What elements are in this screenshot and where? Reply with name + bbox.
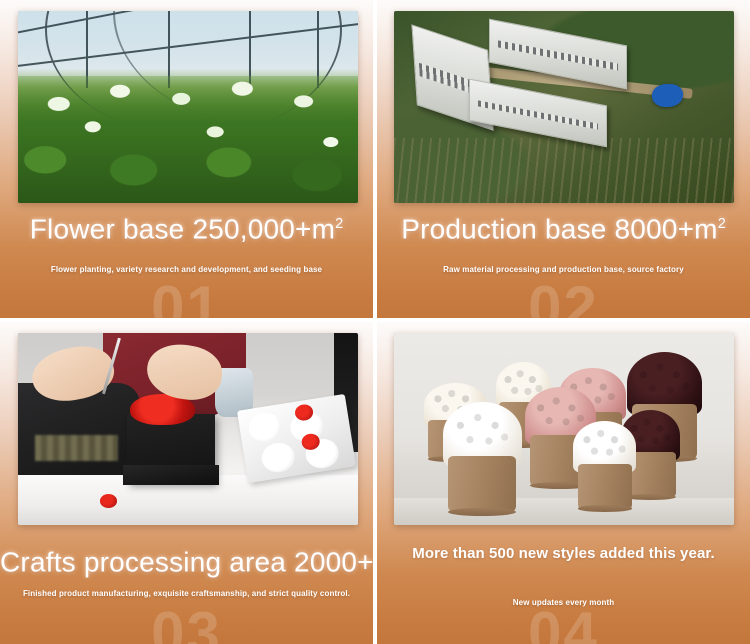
panel-photo-crafts-processing [18, 333, 358, 525]
panel-title-crafts-processing: Crafts processing area 2000+m2 [0, 540, 373, 579]
feature-panel-grid: Flower base 250,000+m2 Flower planting, … [0, 0, 750, 644]
panel-title-superscript: 2 [718, 216, 726, 232]
panel-title-text: Crafts processing area 2000+m [0, 546, 373, 577]
craft-workshop-photo [18, 333, 358, 525]
panel-production-base[interactable]: Production base 8000+m2 Raw material pro… [377, 0, 750, 318]
panel-title-text: Flower base 250,000+m [30, 213, 335, 244]
display-floor [394, 498, 734, 525]
panel-photo-new-styles [394, 333, 734, 525]
rose-boxes-photo [394, 333, 734, 525]
kraft-box [448, 456, 516, 514]
panel-photo-production-base [394, 11, 734, 203]
panel-title-text: Production base 8000+m [401, 213, 718, 244]
panel-photo-flower-base [18, 11, 358, 203]
panel-crafts-processing-area[interactable]: Crafts processing area 2000+m2 Finished … [0, 322, 373, 644]
panel-flower-base[interactable]: Flower base 250,000+m2 Flower planting, … [0, 0, 373, 318]
greenhouse-photo [18, 11, 358, 203]
panel-watermark-03: 03 [0, 604, 373, 644]
blue-water-pool [652, 84, 683, 107]
kraft-box [578, 464, 632, 510]
tray-cup [260, 441, 297, 475]
panel-watermark-02: 02 [377, 278, 750, 318]
panel-title-new-styles: More than 500 new styles added this year… [377, 540, 750, 564]
panel-subtitle-crafts-processing: Finished product manufacturing, exquisit… [0, 589, 373, 598]
panel-subtitle-production-base: Raw material processing and production b… [377, 265, 750, 274]
rose-box-arrangement [448, 402, 516, 513]
panel-subtitle-flower-base: Flower planting, variety research and de… [0, 265, 373, 274]
panel-title-text: More than 500 new styles added this year… [412, 545, 715, 562]
white-packing-tray [237, 394, 356, 483]
tray-cup [247, 410, 284, 444]
panel-title-flower-base: Flower base 250,000+m2 [0, 207, 373, 246]
panel-watermark-04: 04 [377, 604, 750, 644]
panel-title-production-base: Production base 8000+m2 [377, 207, 750, 246]
panel-watermark-01: 01 [0, 278, 373, 318]
panel-title-superscript: 2 [335, 216, 343, 232]
aerial-factory-photo [394, 11, 734, 203]
flower-foliage [18, 76, 358, 203]
rose-box-arrangement [578, 421, 632, 509]
loose-red-rose [100, 494, 117, 507]
panel-new-styles[interactable]: More than 500 new styles added this year… [377, 322, 750, 644]
terraced-field [394, 138, 734, 203]
